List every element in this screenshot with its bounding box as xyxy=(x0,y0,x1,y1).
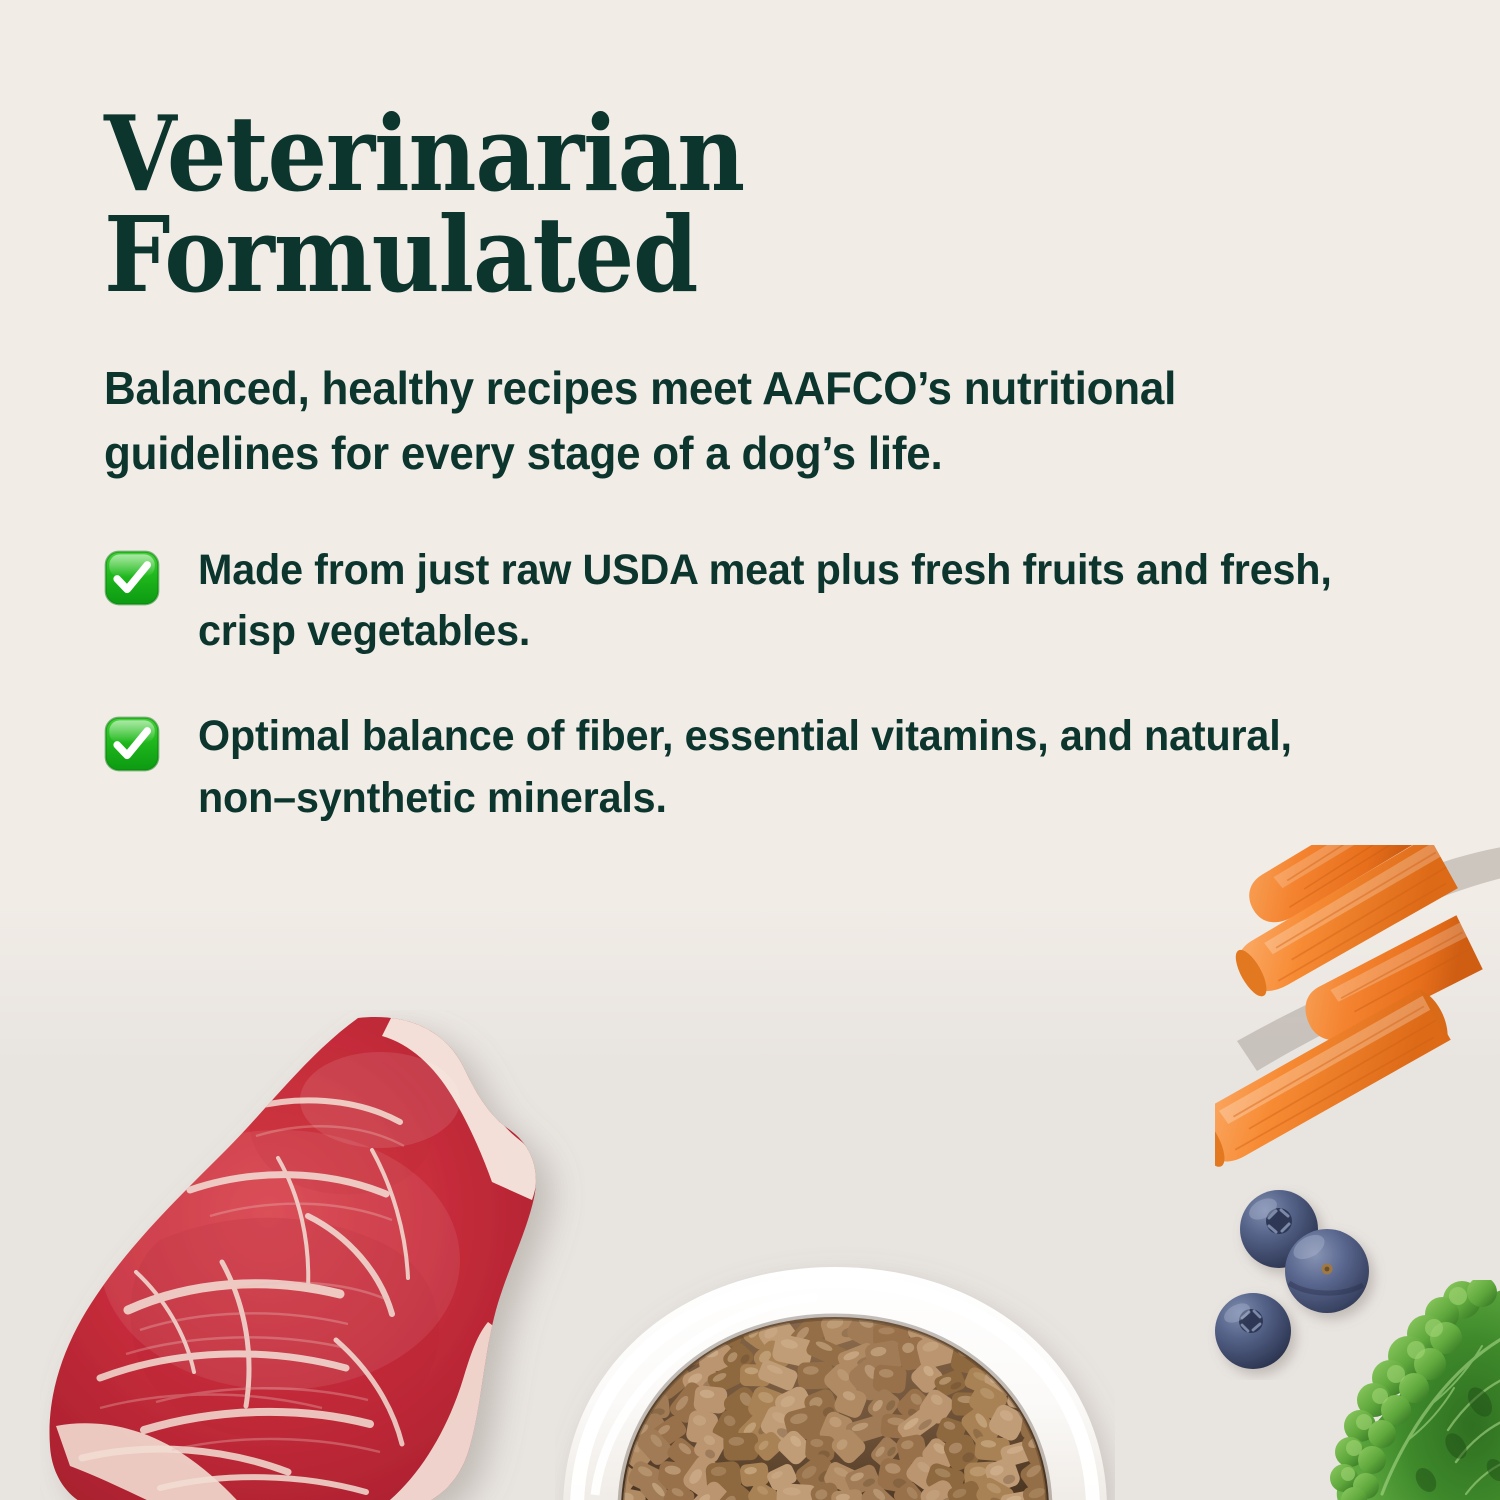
check-mark-button-icon xyxy=(104,540,198,606)
kale-photo xyxy=(1330,1280,1500,1500)
benefit-list: Made from just raw USDA meat plus fresh … xyxy=(104,540,1444,828)
blueberries-photo xyxy=(1205,1185,1405,1380)
list-item-label: Optimal balance of fiber, essential vita… xyxy=(198,706,1394,828)
list-item: Optimal balance of fiber, essential vita… xyxy=(104,706,1444,828)
page-title: Veterinarian Formulated xyxy=(104,104,1310,306)
promo-banner: Veterinarian Formulated Balanced, health… xyxy=(0,0,1500,1500)
carrots-photo xyxy=(1215,845,1500,1175)
kibble-bowl-photo xyxy=(555,1245,1115,1500)
list-item-label: Made from just raw USDA meat plus fresh … xyxy=(198,540,1394,662)
subheading: Balanced, healthy recipes meet AAFCO’s n… xyxy=(104,356,1384,487)
list-item: Made from just raw USDA meat plus fresh … xyxy=(104,540,1444,662)
raw-steak-photo xyxy=(40,1010,660,1500)
check-mark-button-icon xyxy=(104,706,198,772)
copy-block: Veterinarian Formulated Balanced, health… xyxy=(104,104,1444,873)
background-gradient xyxy=(0,900,1500,1500)
